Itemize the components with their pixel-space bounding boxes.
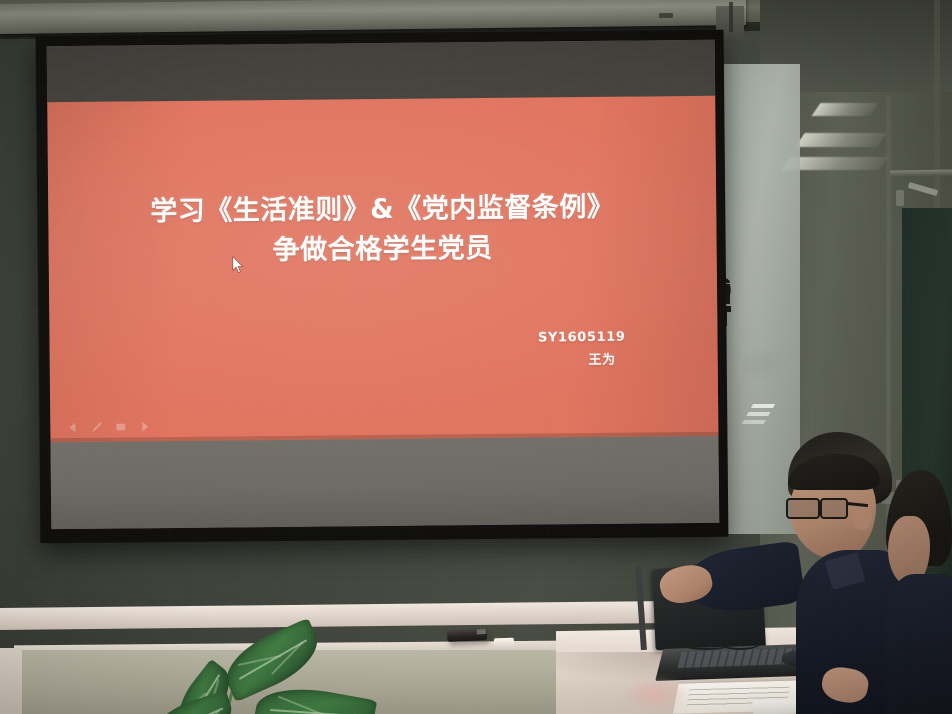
- lectern-side-panel: [0, 648, 22, 714]
- projector-screen-surface: 学习《生活准则》&《党内监督条例》 争做合格学生党员 SY1605119 王为: [47, 40, 720, 529]
- roller-case-joint: [729, 2, 733, 32]
- presentation-slide[interactable]: 学习《生活准则》&《党内监督条例》 争做合格学生党员 SY1605119 王为: [47, 96, 718, 442]
- window-glare-stripe: [812, 103, 879, 116]
- next-slide-icon[interactable]: [138, 420, 151, 433]
- classroom-photo-scene: G 学习《生活准则》&《党内监督条例》 争做合格学生党员 SY1605119 王…: [0, 0, 952, 714]
- person-seated-behind: [886, 470, 952, 714]
- slide-title-line-2: 争做合格学生党员: [72, 228, 692, 272]
- unlit-screen-area: [50, 431, 719, 529]
- person-torso: [886, 574, 952, 714]
- author-name: 王为: [538, 349, 626, 373]
- slide-menu-icon[interactable]: [114, 420, 127, 433]
- slide-title-line-1: 学习《生活准则》&《党内监督条例》: [150, 192, 614, 227]
- chalkboard-bracket: [896, 190, 904, 206]
- whiteboard-glare: [751, 404, 775, 408]
- previous-slide-icon[interactable]: [66, 421, 79, 434]
- potted-plant: [150, 628, 410, 714]
- window-glare-stripe: [795, 133, 886, 147]
- cable-bundle: [658, 630, 788, 656]
- slide-byline: SY1605119 王为: [538, 327, 626, 373]
- presenter-mode-toolbar[interactable]: [66, 420, 151, 434]
- student-id: SY1605119: [538, 330, 626, 346]
- chalkboard-rail: [890, 169, 952, 176]
- remote-control[interactable]: [447, 627, 488, 642]
- pen-annotate-icon[interactable]: [90, 421, 103, 434]
- projector-screen: 学习《生活准则》&《党内监督条例》 争做合格学生党员 SY1605119 王为: [36, 30, 729, 544]
- eyeglasses: [786, 498, 858, 520]
- roller-case-screw: [659, 13, 673, 18]
- slide-title: 学习《生活准则》&《党内监督条例》 争做合格学生党员: [48, 188, 717, 273]
- whiteboard-eraser[interactable]: [494, 638, 514, 648]
- projection-letterbox-top: [47, 40, 716, 104]
- foreground-blur: [620, 676, 690, 714]
- whiteboard-smudge: [744, 350, 798, 378]
